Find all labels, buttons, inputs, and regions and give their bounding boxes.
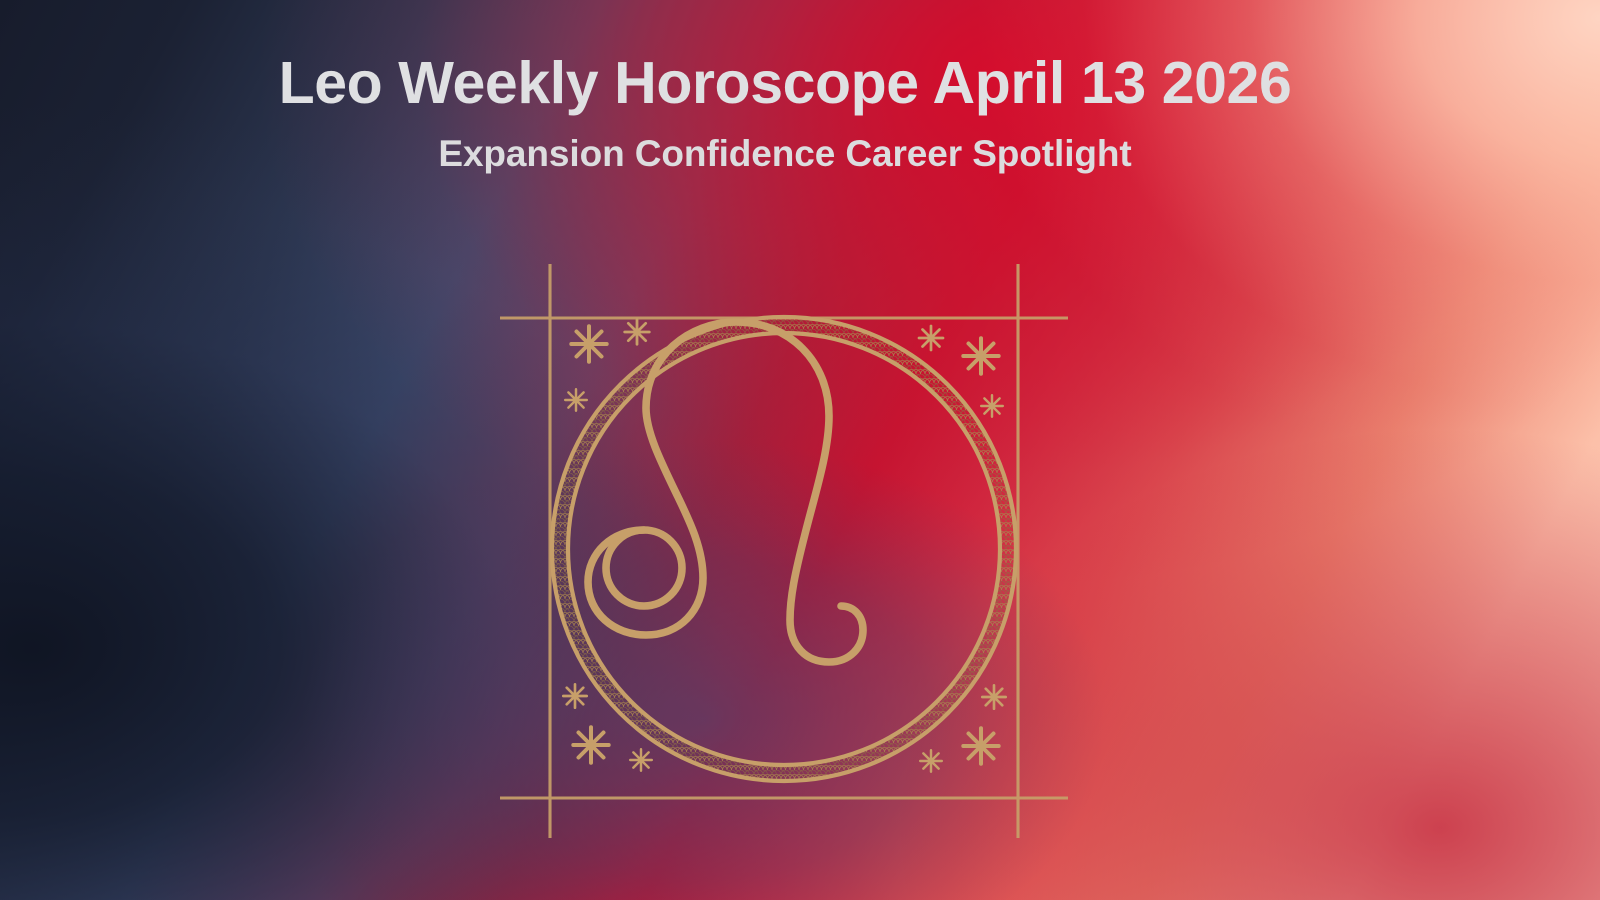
leo-emblem-svg xyxy=(484,248,1084,852)
page-subtitle: Expansion Confidence Career Spotlight xyxy=(0,113,1600,172)
star-top-left-3 xyxy=(565,389,587,411)
star-top-left-1 xyxy=(571,326,606,361)
horoscope-graphic: Leo Weekly Horoscope April 13 2026 Expan… xyxy=(0,0,1600,900)
header-block: Leo Weekly Horoscope April 13 2026 Expan… xyxy=(0,0,1600,172)
star-top-left-2 xyxy=(625,320,650,345)
star-top-right-3 xyxy=(981,395,1003,417)
ornamental-ring xyxy=(484,248,1084,852)
star-top-right-2 xyxy=(963,338,998,373)
zodiac-emblem xyxy=(484,248,1084,852)
star-bottom-left-2 xyxy=(573,727,608,762)
star-bottom-right-1 xyxy=(920,750,942,772)
star-top-right-1 xyxy=(919,326,943,350)
star-bottom-left-1 xyxy=(563,684,586,707)
star-bottom-right-3 xyxy=(982,685,1005,708)
star-bottom-right-2 xyxy=(963,728,998,763)
star-bottom-left-3 xyxy=(630,749,652,771)
page-title: Leo Weekly Horoscope April 13 2026 xyxy=(0,54,1600,113)
